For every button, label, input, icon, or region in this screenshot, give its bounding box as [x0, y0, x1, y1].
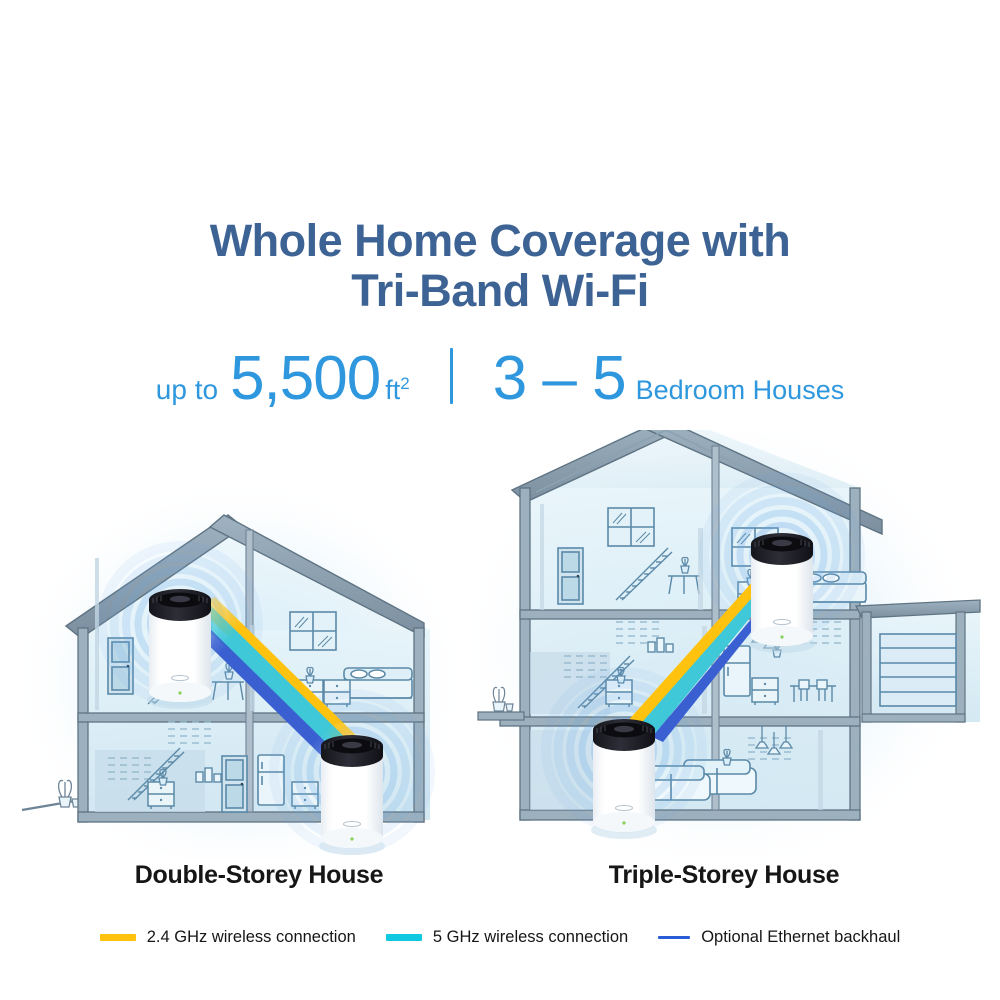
legend-item-24ghz: 2.4 GHz wireless connection — [100, 928, 356, 947]
deco-unit-top-right — [749, 533, 815, 653]
coverage-unit-text: ft — [385, 375, 400, 405]
stats-divider — [450, 348, 453, 404]
coverage-prefix: up to — [156, 376, 218, 409]
bedrooms-label: Bedroom Houses — [626, 377, 845, 410]
page-title: Whole Home Coverage with Tri-Band Wi-Fi — [0, 216, 1000, 316]
legend-label-24ghz: 2.4 GHz wireless connection — [147, 928, 356, 947]
legend-item-5ghz: 5 GHz wireless connection — [386, 928, 628, 947]
caption-triple-storey: Triple-Storey House — [528, 861, 920, 890]
coverage-unit-sup: 2 — [400, 374, 409, 393]
page-title-line2: Tri-Band Wi-Fi — [0, 266, 1000, 316]
legend-item-ethernet: Optional Ethernet backhaul — [658, 928, 900, 947]
bedrooms-stat: 3 – 5 Bedroom Houses — [493, 348, 845, 410]
deco-unit-lower-left — [319, 735, 385, 855]
legend-swatch-5ghz-icon — [386, 934, 422, 941]
bedrooms-value: 3 – 5 — [493, 348, 626, 410]
deco-unit-upper-left — [147, 589, 213, 709]
deco-unit-ground-left — [591, 719, 657, 839]
garage-extension — [856, 600, 980, 722]
stats-row: up to 5,500 ft2 3 – 5 Bedroom Houses — [0, 348, 1000, 410]
coverage-value: 5,500 — [230, 348, 380, 410]
legend-swatch-ethernet-icon — [658, 936, 690, 939]
legend-swatch-24ghz-icon — [100, 934, 136, 941]
legend-label-5ghz: 5 GHz wireless connection — [433, 928, 628, 947]
houses-illustration — [0, 430, 1000, 860]
legend-label-ethernet: Optional Ethernet backhaul — [701, 928, 900, 947]
caption-double-storey: Double-Storey House — [58, 861, 460, 890]
page-title-line1: Whole Home Coverage with — [210, 215, 791, 266]
coverage-area-stat: up to 5,500 ft2 — [156, 348, 410, 410]
coverage-unit: ft2 — [380, 377, 409, 410]
legend: 2.4 GHz wireless connection 5 GHz wirele… — [0, 928, 1000, 947]
poster-canvas: Whole Home Coverage with Tri-Band Wi-Fi … — [0, 0, 1000, 1000]
